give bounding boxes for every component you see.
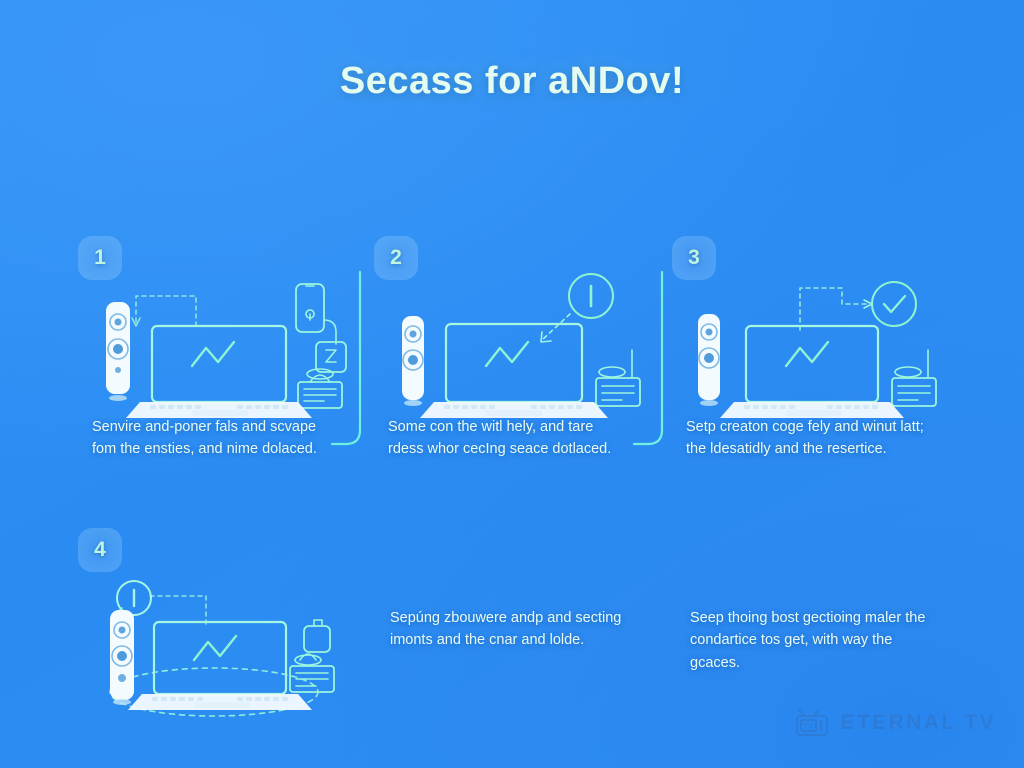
laptop-icon — [152, 326, 286, 402]
dashed-arrow-icon — [136, 296, 196, 330]
tv-icon: TV — [795, 708, 829, 738]
remote-device-icon — [106, 302, 130, 401]
step-caption-1: Senvire and-poner fals and scvape fom th… — [92, 416, 332, 461]
watermark: TV ETERNAL TV — [795, 708, 996, 738]
step-caption-4: Sepúng zbouwere andp and secting imonts … — [390, 607, 636, 652]
remote-device-icon — [402, 316, 424, 406]
step-illustration-3 — [682, 274, 940, 414]
panel-divider-1 — [330, 272, 370, 452]
svg-text:TV: TV — [803, 722, 813, 731]
laptop-icon — [154, 622, 286, 694]
watermark-brand: ETERNAL TV — [841, 711, 996, 735]
page-title: Secass for aNDov! — [0, 60, 1024, 103]
step-illustration-2 — [384, 274, 636, 414]
laptop-base-4 — [128, 694, 312, 710]
info-circle-icon — [569, 274, 613, 318]
remote-device-icon — [110, 610, 134, 705]
step-caption-2: Some con the witl hely, and tare rdess w… — [388, 416, 628, 461]
laptop-icon — [446, 324, 582, 402]
step-caption-5: Seep thoing bost gectioing maler the con… — [690, 607, 936, 674]
router-icon — [290, 654, 334, 692]
step-illustration-4 — [88, 566, 340, 706]
remote-device-icon — [698, 314, 720, 406]
step-caption-3: Setp creaton coge fely and winut latt; t… — [686, 416, 934, 461]
smartphone-icon — [296, 284, 324, 332]
arrow-icon — [542, 314, 570, 340]
dashed-arrow-icon — [800, 288, 868, 330]
laptop-icon — [746, 326, 878, 402]
router-icon — [892, 350, 936, 406]
charger-icon — [304, 620, 330, 652]
step-illustration-1 — [88, 274, 340, 414]
dashed-arrow-icon — [150, 596, 206, 624]
panel-divider-2 — [632, 272, 672, 452]
check-circle-icon — [872, 282, 916, 326]
poster-canvas: Secass for aNDov! 1 — [0, 0, 1024, 768]
